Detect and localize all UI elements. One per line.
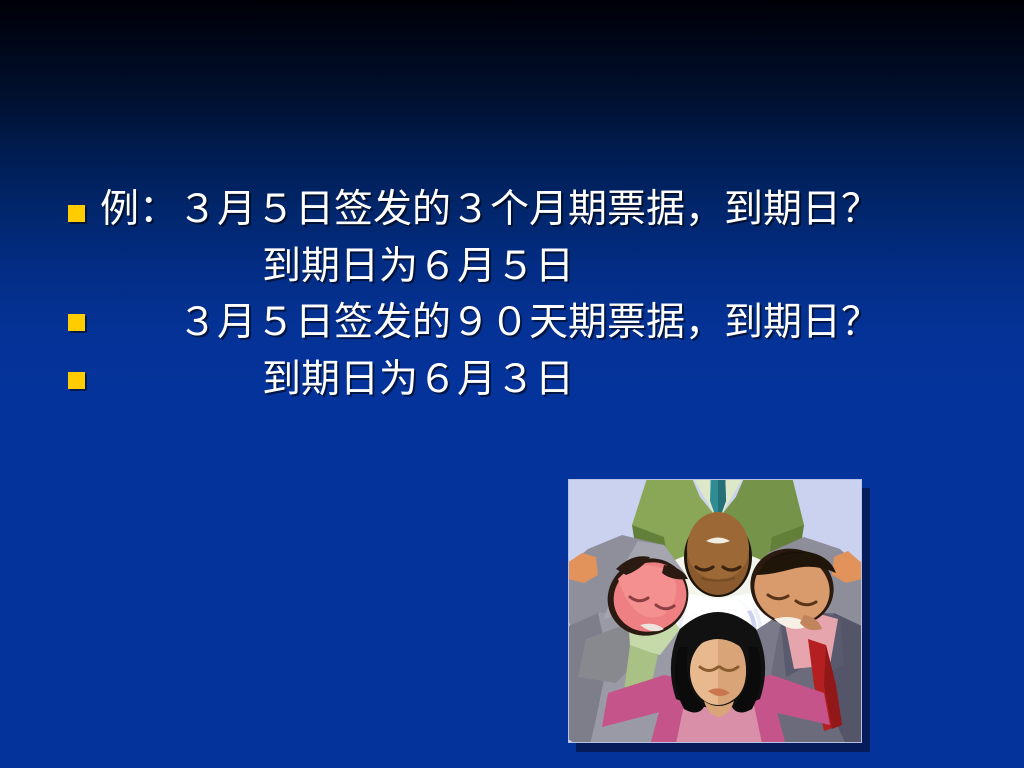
body-line-3: ３月５日签发的９０天期票据，到期日？ bbox=[178, 303, 880, 342]
bullet-marker-3 bbox=[68, 372, 85, 389]
clipart-picture bbox=[568, 479, 862, 743]
body-line-4: 到期日为６月３日 bbox=[262, 360, 574, 399]
bullet-marker-2 bbox=[68, 314, 85, 331]
bullet-marker-1 bbox=[68, 205, 85, 222]
slide-canvas: 例：３月５日签发的３个月期票据，到期日？ 到期日为６月５日 ３月５日签发的９０天… bbox=[0, 0, 1024, 768]
picture-frame bbox=[568, 479, 862, 743]
slide-body-text: 例：３月５日签发的３个月期票据，到期日？ 到期日为６月５日 ３月５日签发的９０天… bbox=[0, 0, 1024, 768]
business-team-huddle-icon bbox=[568, 479, 862, 743]
body-line-1: 例：３月５日签发的３个月期票据，到期日？ bbox=[100, 190, 880, 229]
body-line-2: 到期日为６月５日 bbox=[262, 247, 574, 286]
